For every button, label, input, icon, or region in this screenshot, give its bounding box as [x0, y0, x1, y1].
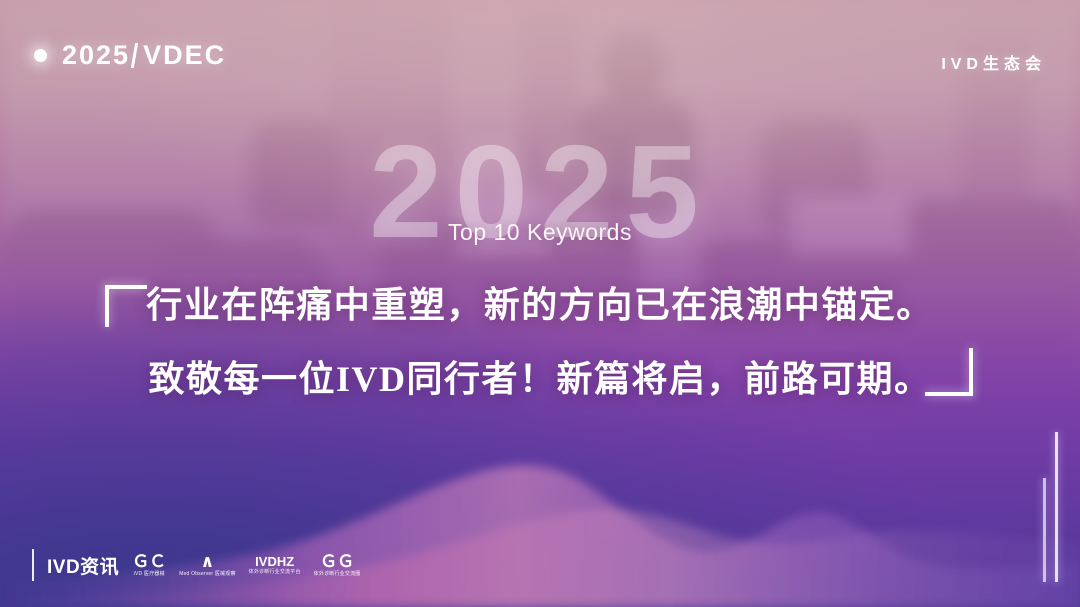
promo-banner: 2025	[0, 0, 1080, 607]
brand-name: VDEC	[143, 40, 226, 71]
quote-block: 行业在阵痛中重塑，新的方向已在浪潮中锚定。 致敬每一位IVD同行者！新篇将启，前…	[0, 276, 1080, 402]
brand-divider-icon	[131, 43, 138, 68]
partner-glyph-1: ＧＣ	[132, 553, 166, 570]
partner-logo-med-observer: ∧ Med Observer 医械观察	[179, 553, 235, 577]
partner-logo-gg: ＧＧ 体外诊断行业交流圈	[314, 553, 361, 577]
subtitle: Top 10 Keywords	[0, 219, 1080, 246]
dot-icon	[34, 49, 47, 62]
brand-logo: 2025 VDEC	[34, 40, 226, 71]
partner-caption-3: 体外诊断行业交流平台	[249, 570, 301, 575]
brand-year: 2025	[62, 40, 130, 71]
partner-logo-ivdhz: IVDHZ 体外诊断行业交流平台	[249, 555, 301, 575]
bracket-top-left-icon	[105, 285, 147, 327]
partner-glyph-4: ＧＧ	[320, 553, 354, 570]
partner-logo-strip: IVD资讯 ＧＣ iVD 医疗器械 ∧ Med Observer 医械观察 IV…	[32, 549, 360, 581]
event-name: IVD生态会	[941, 50, 1046, 74]
bracket-bottom-right-icon	[925, 348, 973, 396]
partner-glyph-3: IVDHZ	[255, 555, 294, 568]
accent-line-right-inner	[1043, 478, 1046, 582]
quote-line-2: 致敬每一位IVD同行者！新篇将启，前路可期。	[0, 350, 1080, 402]
partner-caption-4: 体外诊断行业交流圈	[314, 572, 361, 577]
partner-name-0: IVD资讯	[47, 552, 119, 579]
quote-line-1: 行业在阵痛中重塑，新的方向已在浪潮中锚定。	[0, 276, 1080, 328]
partner-glyph-2: ∧	[201, 553, 215, 570]
accent-line-right-outer	[1055, 432, 1058, 582]
brand-wordmark: 2025 VDEC	[62, 40, 226, 71]
partner-caption-1: iVD 医疗器械	[134, 572, 165, 577]
partner-caption-2: Med Observer 医械观察	[179, 572, 235, 577]
partner-logo-ivd-zixun: IVD资讯	[47, 552, 119, 579]
partner-logo-ivd: ＧＣ iVD 医疗器械	[132, 553, 166, 577]
footer-divider-icon	[32, 549, 34, 581]
